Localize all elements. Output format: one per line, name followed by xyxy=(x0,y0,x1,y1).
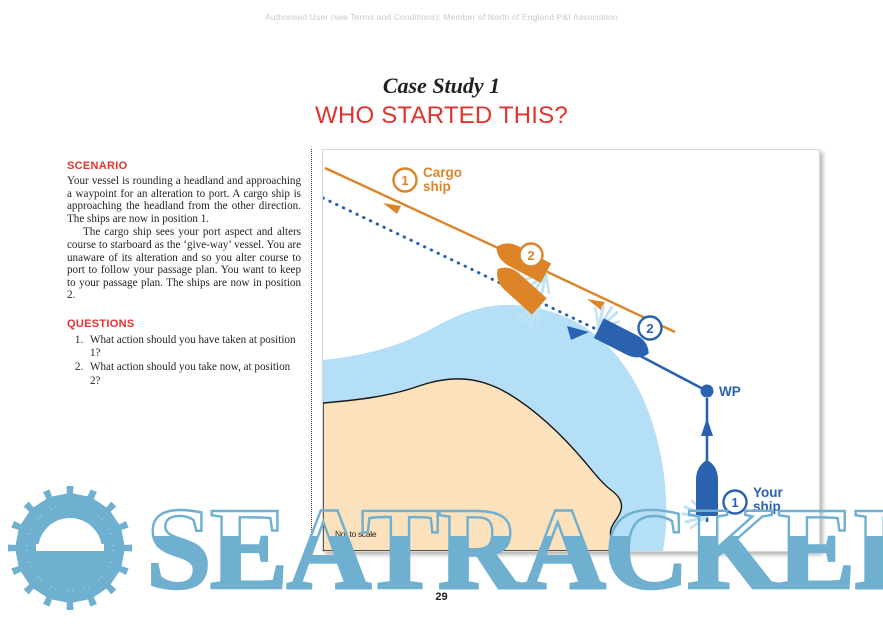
marker-cargo-1-label: 1 xyxy=(401,173,408,188)
authorised-user-header: Authorised User (see Terms and Condition… xyxy=(0,12,883,22)
list-item: What action should you have taken at pos… xyxy=(86,334,301,360)
page-number: 29 xyxy=(0,591,883,603)
waypoint-label: WP xyxy=(719,384,741,399)
questions-heading: QUESTIONS xyxy=(67,318,301,330)
cargo-ship-label-line1: Cargo xyxy=(423,165,462,180)
marker-your-2-label: 2 xyxy=(646,321,653,336)
scenario-paragraph-2: The cargo ship sees your port aspect and… xyxy=(67,226,301,302)
marker-cargo-1: 1 xyxy=(394,169,417,192)
scenario-paragraph-1: Your vessel is rounding a headland and a… xyxy=(67,175,301,225)
case-study-diagram: 1 Cargo ship 2 xyxy=(322,149,820,552)
marker-your-1-label: 1 xyxy=(731,495,738,510)
cargo-ship-label-line2: ship xyxy=(423,179,451,194)
your-ship-label-line1: Your xyxy=(753,485,783,500)
waypoint-dot-icon xyxy=(701,385,714,398)
scenario-heading: SCENARIO xyxy=(67,160,301,172)
questions-list: What action should you have taken at pos… xyxy=(67,334,301,388)
not-to-scale-label: Not to scale xyxy=(335,529,376,539)
marker-cargo-2: 2 xyxy=(520,244,543,267)
marker-your-1: 1 xyxy=(724,491,747,514)
left-column: SCENARIO Your vessel is rounding a headl… xyxy=(67,160,301,389)
your-ship-label-line2: ship xyxy=(753,499,781,514)
page-title: WHO STARTED THIS? xyxy=(0,102,883,130)
marker-cargo-2-label: 2 xyxy=(527,248,534,263)
own-ship-hull-icon xyxy=(696,460,718,516)
document-page: Authorised User (see Terms and Condition… xyxy=(0,0,883,619)
column-divider xyxy=(311,149,312,550)
marker-your-2: 2 xyxy=(639,317,662,340)
case-study-title: Case Study 1 xyxy=(0,73,883,99)
list-item: What action should you take now, at posi… xyxy=(86,361,301,387)
